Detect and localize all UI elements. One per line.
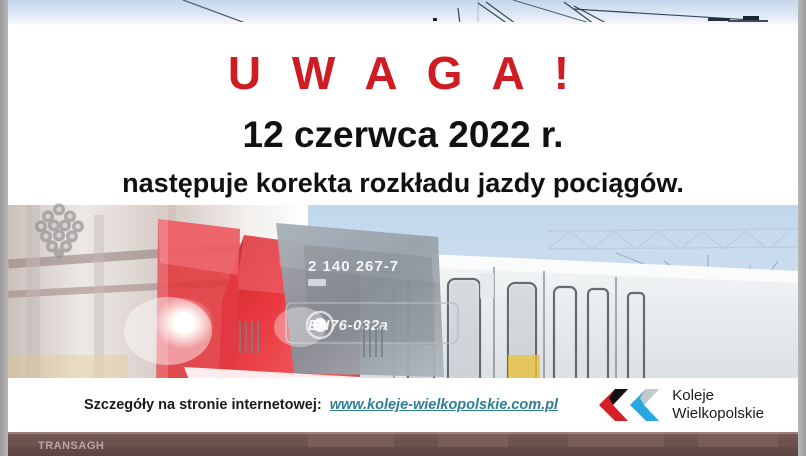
coat-of-arms-icon [28, 201, 90, 259]
headline-date: 12 czerwca 2022 r. [243, 116, 564, 153]
announcement-poster: U W A G A ! 12 czerwca 2022 r. następuje… [0, 0, 806, 456]
frame-left-edge [0, 0, 8, 456]
brand-name-line1: Koleje [672, 387, 764, 405]
headline-uwaga: U W A G A ! [228, 50, 578, 96]
sky-strip [8, 0, 798, 24]
photo-ghost-text: TRANSAGH [38, 440, 104, 452]
brand-name: Koleje Wielkopolskie [672, 387, 764, 422]
footer-note-prefix: Szczegóły na stronie internetowej: [84, 397, 322, 413]
frame-right-edge [798, 0, 806, 456]
headline-band: U W A G A ! 12 czerwca 2022 r. następuje… [8, 24, 798, 205]
brand-name-line2: Wielkopolskie [672, 405, 764, 423]
footer-note: Szczegóły na stronie internetowej: www.k… [84, 397, 558, 413]
catenary-wires-icon [8, 0, 798, 24]
headline-subtitle: następuje korekta rozkładu jazdy pociągó… [122, 170, 684, 197]
footer-bar: Szczegóły na stronie internetowej: www.k… [8, 378, 798, 432]
website-link[interactable]: www.koleje-wielkopolskie.com.pl [330, 397, 558, 413]
brand-lockup: Koleje Wielkopolskie [599, 387, 764, 423]
koleje-wielkopolskie-logo-icon [599, 387, 661, 423]
